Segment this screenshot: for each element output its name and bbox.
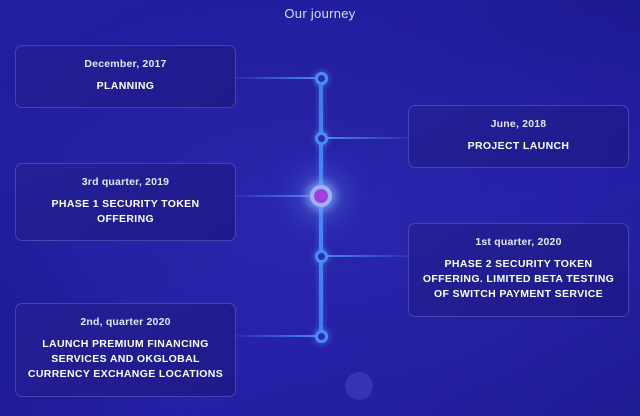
milestone-card[interactable]: June, 2018 PROJECT LAUNCH	[408, 105, 629, 168]
milestone-card[interactable]: 1st quarter, 2020 PHASE 2 SECURITY TOKEN…	[408, 223, 629, 317]
milestone-date: 2nd, quarter 2020	[26, 316, 225, 328]
milestone-title: PROJECT LAUNCH	[419, 139, 618, 154]
milestone-connector-line	[226, 335, 322, 337]
milestone-node[interactable]	[315, 250, 328, 263]
milestone-title: PLANNING	[26, 79, 225, 94]
milestone-title: LAUNCH PREMIUM FINANCING SERVICES AND OK…	[26, 337, 225, 383]
milestone-date: 3rd quarter, 2019	[26, 176, 225, 188]
timeline-spine	[319, 78, 323, 336]
milestone-connector-line	[226, 195, 322, 197]
milestone-node[interactable]	[315, 330, 328, 343]
roadmap-section: Our journey December, 2017 PLANNING June…	[0, 0, 640, 416]
milestone-date: June, 2018	[419, 118, 618, 130]
milestone-title: PHASE 2 SECURITY TOKEN OFFERING. LIMITED…	[419, 257, 618, 303]
decorative-circle	[345, 372, 373, 400]
milestone-connector-line	[322, 255, 418, 257]
milestone-connector-line	[226, 77, 322, 79]
milestone-connector-line	[322, 137, 418, 139]
milestone-node-active[interactable]	[310, 185, 332, 207]
page-title: Our journey	[0, 6, 640, 21]
milestone-card[interactable]: 2nd, quarter 2020 LAUNCH PREMIUM FINANCI…	[15, 303, 236, 397]
milestone-node[interactable]	[315, 132, 328, 145]
milestone-node[interactable]	[315, 72, 328, 85]
milestone-card[interactable]: December, 2017 PLANNING	[15, 45, 236, 108]
milestone-card[interactable]: 3rd quarter, 2019 PHASE 1 SECURITY TOKEN…	[15, 163, 236, 241]
milestone-date: December, 2017	[26, 58, 225, 70]
milestone-title: PHASE 1 SECURITY TOKEN OFFERING	[26, 197, 225, 227]
milestone-date: 1st quarter, 2020	[419, 236, 618, 248]
